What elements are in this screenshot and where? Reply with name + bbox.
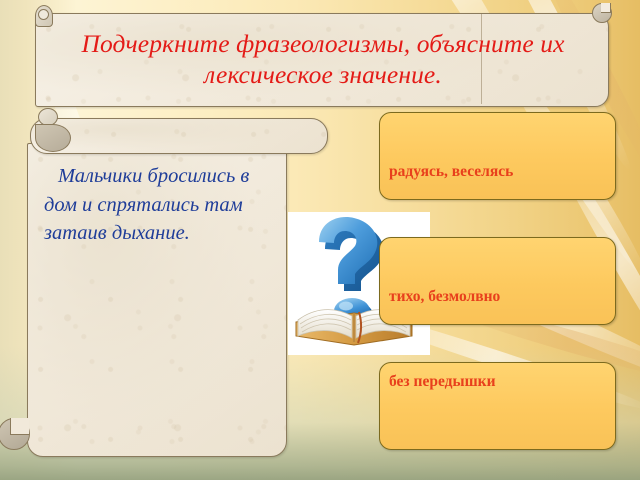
scroll-curl-icon (35, 124, 71, 152)
answer-label: тихо, безмолвно (389, 288, 500, 306)
scroll-curl-inner-icon (38, 9, 49, 20)
scroll-curl-wedge-icon (601, 3, 611, 13)
page-title: Подчеркните фразеологизмы, объясните их … (44, 20, 602, 98)
answer-label: радуясь, веселясь (389, 163, 513, 181)
scroll-curl-wedge-icon (10, 418, 29, 435)
sentence-scroll-top-roll (30, 118, 328, 154)
exercise-sentence: Мальчики бросились в дом и спрятались та… (44, 162, 270, 248)
slide-canvas: Подчеркните фразеологизмы, объясните их … (0, 0, 640, 480)
answer-box[interactable]: без передышки (379, 362, 616, 450)
answer-label: без передышки (389, 373, 496, 391)
answer-box[interactable]: радуясь, веселясь (379, 112, 616, 200)
answer-box[interactable]: тихо, безмолвно (379, 237, 616, 325)
